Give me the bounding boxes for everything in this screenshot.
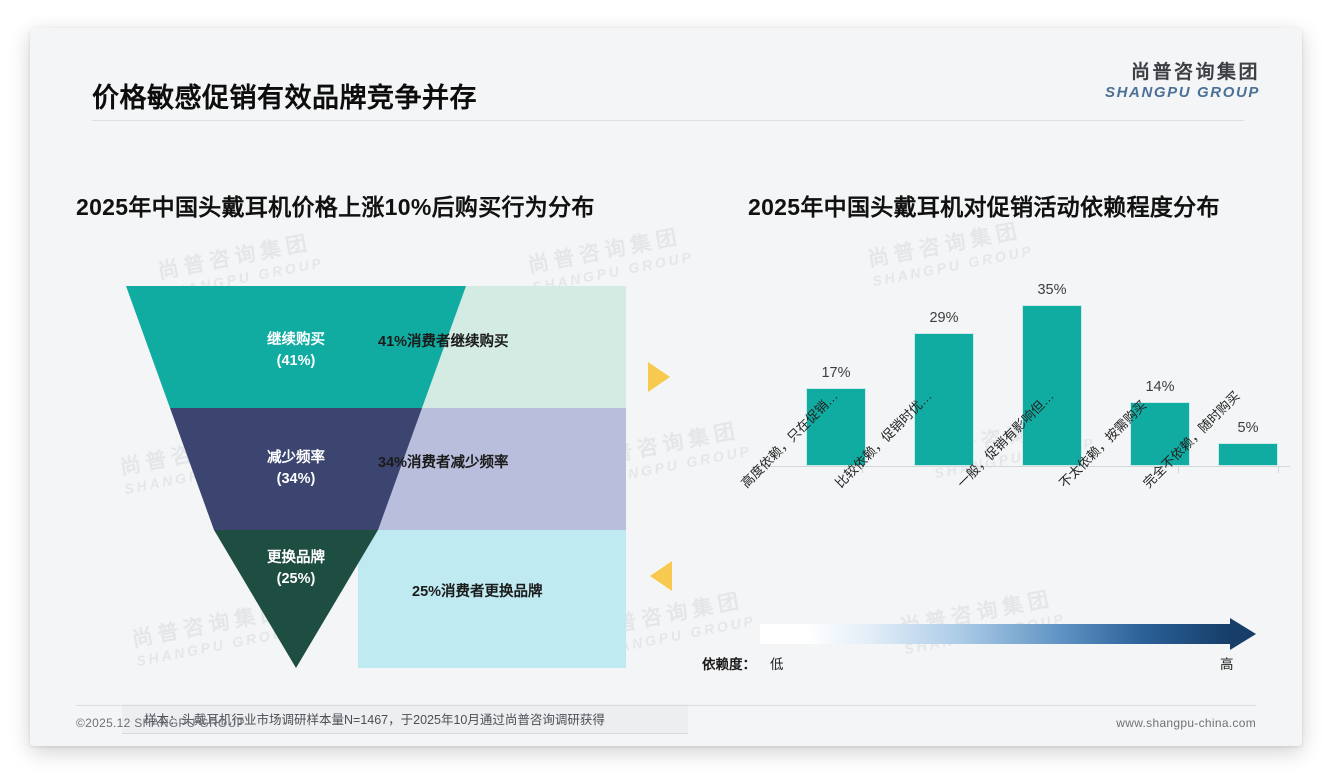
footer-copyright: ©2025.12 SHANGPU GROUP: [76, 716, 245, 730]
bar-rect-5[interactable]: [1218, 443, 1278, 466]
bar-group-3: 35%: [1022, 282, 1082, 466]
chart-title-funnel: 2025年中国头戴耳机价格上涨10%后购买行为分布: [76, 188, 595, 222]
funnel-chart: 继续购买 (41%) 减少频率 (34%) 更换品牌 (25%) 41%消费者继…: [126, 286, 626, 668]
watermark-cn-text: 尚普咨询集团: [525, 219, 692, 280]
x-axis-line: [754, 466, 1290, 467]
bar-group-5: 5%: [1218, 420, 1278, 466]
dependency-scale-legend: 依赖度： 低 高: [702, 624, 1282, 680]
funnel-side-label-2: 34%消费者减少频率: [378, 451, 509, 472]
page-title: 价格敏感促销有效品牌竞争并存: [92, 76, 477, 115]
header-divider: [92, 120, 1244, 121]
legend-title: 依赖度：: [702, 653, 756, 673]
funnel-side-label-3: 25%消费者更换品牌: [412, 580, 543, 601]
logo-chinese-text: 尚普咨询集团: [1105, 62, 1260, 84]
slide-card: 尚普咨询集团 SHANGPU GROUP 尚普咨询集团 SHANGPU GROU…: [30, 28, 1302, 746]
funnel-segment-label-1: 继续购买 (41%): [236, 330, 356, 372]
bar-chart: 17% 29% 35% 14% 5%: [730, 290, 1290, 620]
arrow-right-icon: [1230, 618, 1256, 650]
bar-value-1: 17%: [821, 365, 850, 381]
bar-value-3: 35%: [1037, 282, 1066, 298]
watermark: 尚普咨询集团 SHANGPU GROUP: [525, 219, 695, 295]
legend-low-label: 低: [770, 653, 784, 673]
brand-logo: 尚普咨询集团 SHANGPU GROUP: [1105, 62, 1260, 102]
bar-value-2: 29%: [929, 310, 958, 326]
legend-high-label: 高: [1220, 653, 1234, 673]
gradient-bar: [760, 624, 1230, 644]
footer-divider: [76, 705, 1256, 706]
funnel-shape: [126, 286, 626, 668]
triangle-right-icon: [648, 362, 670, 392]
funnel-segment-label-3: 更换品牌 (25%): [236, 548, 356, 590]
funnel-segment-name-2: 减少频率: [236, 448, 356, 469]
funnel-segment-name-1: 继续购买: [236, 330, 356, 351]
bar-rect-3[interactable]: [1022, 305, 1082, 466]
bar-value-5: 5%: [1238, 420, 1259, 436]
logo-english-text: SHANGPU GROUP: [1105, 84, 1260, 102]
x-axis-tick: [1178, 466, 1179, 473]
watermark: 尚普咨询集团 SHANGPU GROUP: [865, 213, 1035, 289]
x-axis-tick: [1278, 466, 1279, 473]
footer-website[interactable]: www.shangpu-china.com: [1116, 716, 1256, 730]
funnel-side-label-1: 41%消费者继续购买: [378, 330, 509, 351]
funnel-segment-value-2: (34%): [236, 469, 356, 490]
chart-title-bar: 2025年中国头戴耳机对促销活动依赖程度分布: [748, 188, 1220, 222]
bar-plot-area: 17% 29% 35% 14% 5%: [754, 290, 1290, 466]
funnel-segment-label-2: 减少频率 (34%): [236, 448, 356, 490]
funnel-segment-value-1: (41%): [236, 351, 356, 372]
watermark-cn-text: 尚普咨询集团: [155, 225, 322, 286]
slide-header: 价格敏感促销有效品牌竞争并存 尚普咨询集团 SHANGPU GROUP: [30, 28, 1302, 120]
bar-value-4: 14%: [1145, 379, 1174, 395]
triangle-left-icon: [650, 561, 672, 591]
funnel-segment-name-3: 更换品牌: [236, 548, 356, 569]
funnel-segment-value-3: (25%): [236, 569, 356, 590]
watermark-en-text: SHANGPU GROUP: [871, 242, 1035, 289]
